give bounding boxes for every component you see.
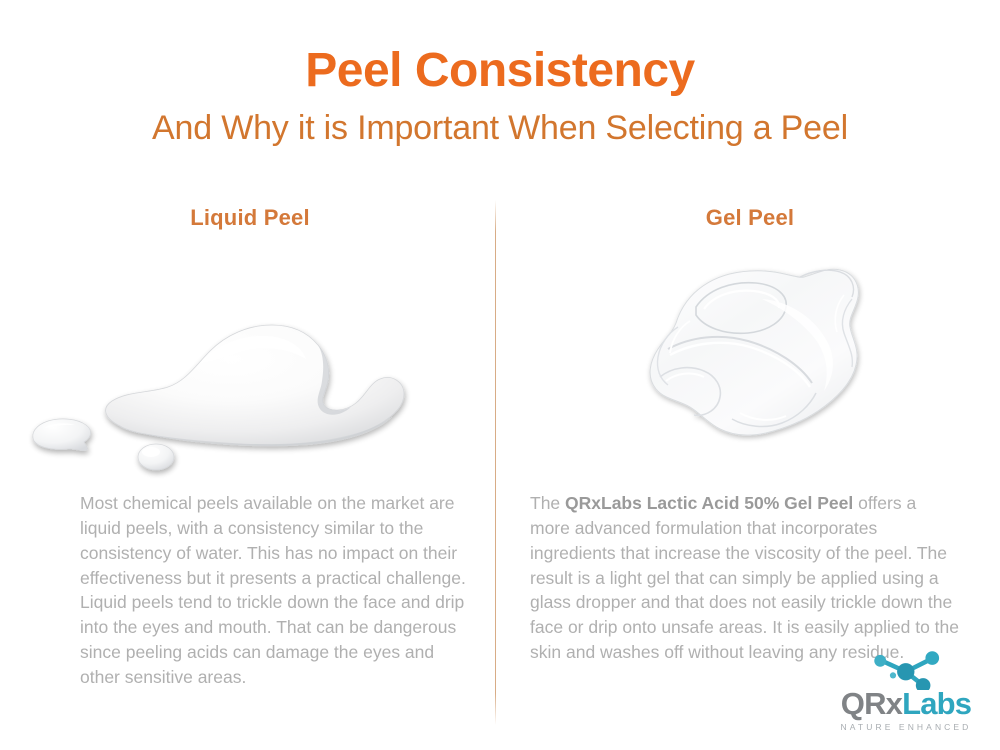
liquid-peel-image <box>0 241 500 491</box>
gel-peel-blob-illustration <box>500 241 1000 491</box>
page-subtitle: And Why it is Important When Selecting a… <box>0 110 1000 147</box>
gel-body-suffix: offers a more advanced formulation that … <box>530 493 959 662</box>
gel-body-prefix: The <box>530 493 565 513</box>
molecule-core-node <box>897 663 914 680</box>
column-liquid-peel: Liquid Peel <box>0 205 500 690</box>
logo-wordmark: QRxLabs <box>830 688 982 719</box>
slide-header: Peel Consistency And Why it is Important… <box>0 46 1000 148</box>
column-gel-peel: Gel Peel <box>500 205 1000 690</box>
gel-peel-image <box>500 241 1000 491</box>
column-body-gel: The QRxLabs Lactic Acid 50% Gel Peel off… <box>500 491 1000 665</box>
liquid-peel-puddle-illustration <box>0 241 500 491</box>
molecule-icon <box>851 648 961 690</box>
logo-tagline: NATURE ENHANCED <box>830 722 982 732</box>
logo-word-labs: Labs <box>902 686 971 721</box>
page-title: Peel Consistency <box>0 46 1000 96</box>
brand-logo: QRxLabs NATURE ENHANCED <box>830 648 982 732</box>
column-heading-gel: Gel Peel <box>500 205 1000 241</box>
molecule-node-top-right <box>926 651 940 665</box>
molecule-node-small <box>890 672 896 678</box>
column-body-liquid: Most chemical peels available on the mar… <box>0 491 500 690</box>
gel-product-name: QRxLabs Lactic Acid 50% Gel Peel <box>565 493 853 513</box>
molecule-node-left <box>875 655 887 667</box>
comparison-columns: Liquid Peel <box>0 205 1000 690</box>
logo-word-qrx: QRx <box>841 686 902 721</box>
slide-canvas: Peel Consistency And Why it is Important… <box>0 0 1000 750</box>
column-heading-liquid: Liquid Peel <box>0 205 500 241</box>
